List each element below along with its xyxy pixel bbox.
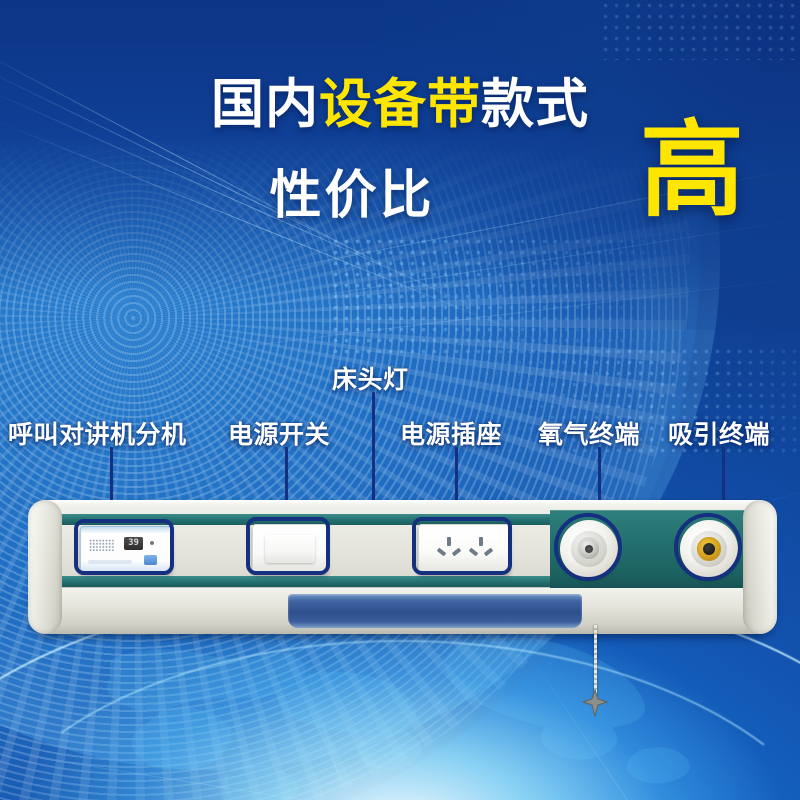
callout-label-intercom: 呼叫对讲机分机 <box>8 415 187 451</box>
dot-matrix-pattern <box>330 236 680 354</box>
callout-label-power-socket: 电源插座 <box>400 415 502 451</box>
highlight-circle-oxygen <box>554 513 622 581</box>
highlight-box-power-socket <box>412 517 512 575</box>
rail-blue-insert <box>288 594 582 628</box>
callout-label-power-switch: 电源开关 <box>228 415 330 451</box>
highlight-box-intercom <box>74 519 174 575</box>
pull-cord-handle-icon[interactable] <box>580 688 610 718</box>
product-banner: 国内设备带款式 性价比 高 呼叫对讲机分机 电源开关 床头灯 电源插座 氧气终端… <box>0 0 800 800</box>
callout-label-oxygen: 氧气终端 <box>538 415 640 451</box>
pull-cord[interactable] <box>594 625 597 697</box>
rail-end-cap-right <box>743 500 777 634</box>
callout-label-suction: 吸引终端 <box>668 415 770 451</box>
highlight-circle-suction <box>674 513 742 581</box>
callout-label-bed-lamp: 床头灯 <box>332 360 409 396</box>
dot-matrix-pattern <box>600 0 800 60</box>
rail-end-cap-left <box>28 500 62 634</box>
highlight-box-power-switch <box>246 517 330 575</box>
